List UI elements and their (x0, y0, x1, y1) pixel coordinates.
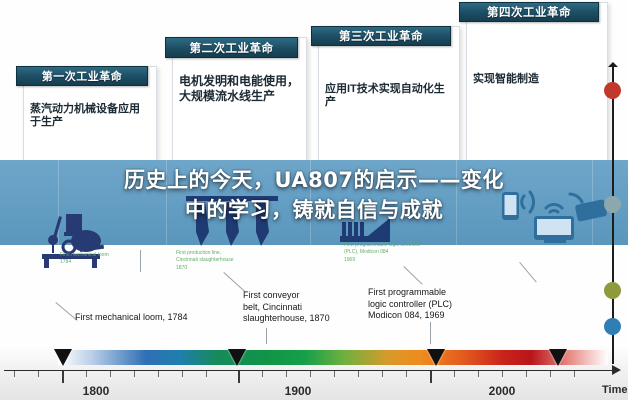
timeline-axis-label: Time (602, 384, 627, 396)
card-body-1: 蒸汽动力机械设备应用于生产 (30, 103, 150, 130)
timeline-marker-1870 (228, 349, 246, 366)
overlay-title: 历史上的今天，UA807的启示——变化 中的学习，铸就自信与成就 (0, 166, 628, 226)
leader-line-7 (519, 262, 536, 283)
callout-first-conveyor-belt: First conveyor belt, Cincinnati slaughte… (243, 290, 330, 325)
timeline: 1800 1900 2000 Time (0, 344, 628, 400)
overlay-title-line-1: 历史上的今天，UA807的启示——变化 (0, 166, 628, 196)
timeline-year-1900: 1900 (285, 384, 312, 398)
card-header-2: 第二次工业革命 (165, 37, 298, 58)
timeline-arrow-icon (612, 365, 621, 375)
card-header-3: 第三次工业革命 (311, 26, 451, 46)
card-header-1: 第一次工业革命 (16, 66, 148, 86)
timeline-year-1800: 1800 (83, 384, 110, 398)
overlay-title-line-2: 中的学习，铸就自信与成就 (0, 196, 628, 226)
green-caption-3: First programmable logic controller (PLC… (344, 242, 421, 264)
timeline-marker-1784 (54, 349, 72, 366)
leader-line-2 (140, 250, 141, 272)
timeline-marker-1969 (427, 349, 445, 366)
card-body-2: 电机发明和电能使用，大规模流水线生产 (179, 74, 300, 103)
rail-dot-blue[interactable] (604, 318, 621, 335)
timeline-marker-2015 (549, 349, 567, 366)
card-header-4: 第四次工业革命 (459, 2, 599, 22)
timeline-year-2000: 2000 (489, 384, 516, 398)
card-body-4: 实现智能制造 (473, 73, 601, 86)
green-caption-1: First mechanical loom 1784 (60, 252, 109, 267)
callout-first-mechanical-loom: First mechanical loom, 1784 (75, 312, 188, 324)
timeline-gradient-bar (58, 350, 608, 365)
callout-first-plc: First programmable logic controller (PLC… (368, 287, 452, 322)
infographic-canvas: 第一次工业革命 蒸汽动力机械设备应用于生产 第二次工业革命 电机发明和电能使用，… (0, 0, 628, 400)
rail-dot-olive[interactable] (604, 282, 621, 299)
rail-dot-red[interactable] (604, 82, 621, 99)
green-caption-2: First production line, Cincinnati slaugh… (176, 250, 234, 272)
leader-line-6 (430, 322, 431, 344)
leader-line-5 (403, 266, 422, 285)
card-body-3: 应用IT技术实现自动化生产 (325, 83, 453, 110)
